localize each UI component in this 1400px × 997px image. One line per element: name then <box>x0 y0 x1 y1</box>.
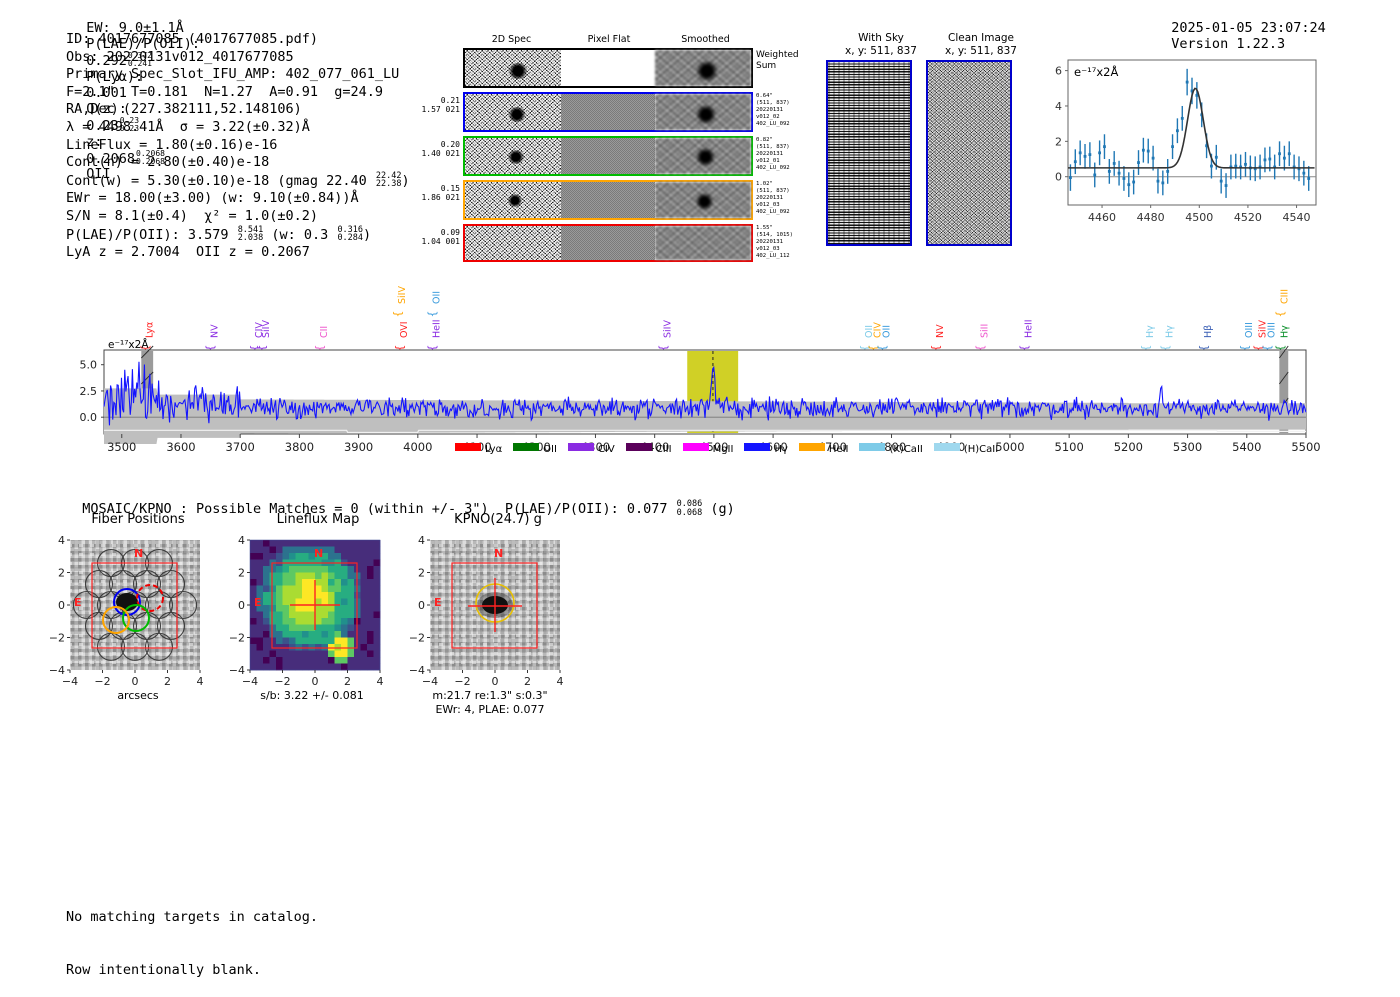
emission-line-label: SiIV <box>663 320 674 338</box>
legend-label: HeII <box>829 444 849 455</box>
emission-line-label: CIV <box>254 322 265 338</box>
emission-line-brace: { <box>391 311 404 318</box>
svg-text:0: 0 <box>1055 171 1062 184</box>
svg-text:4000: 4000 <box>403 440 432 454</box>
emission-line-label: NV <box>935 324 946 338</box>
svg-text:0: 0 <box>238 599 245 612</box>
cutout-pixelflat-image <box>561 94 655 130</box>
emission-line-label: Lyα <box>144 322 155 338</box>
kpno-title: KPNO(24.7) g <box>413 512 583 527</box>
legend-entry: CIII <box>626 444 672 455</box>
cutout-2dspec-image <box>465 226 561 260</box>
cutout-row-meta: 1.02" (511, 837) 20220131 v012_03 402_LU… <box>756 181 802 216</box>
version-label: Version 1.22.3 <box>1171 36 1285 52</box>
info-lineflux: LineFlux = 1.80(±0.16)e-16 <box>66 137 410 155</box>
svg-text:5.0: 5.0 <box>80 359 98 372</box>
cutout-row-green <box>463 136 753 176</box>
svg-text:5200: 5200 <box>1114 440 1143 454</box>
svg-text:4500: 4500 <box>1185 211 1213 224</box>
cutout-row-blue <box>463 92 753 132</box>
cutout-2dspec-image <box>465 182 561 218</box>
cutout-pixelflat-image <box>561 50 655 86</box>
cutout-col-title-pixelflat: Pixel Flat <box>561 34 657 45</box>
footer-line-1: No matching targets in catalog. <box>66 909 318 927</box>
legend-swatch <box>626 443 652 451</box>
footer-note: No matching targets in catalog. Row inte… <box>66 874 318 997</box>
emission-line-brace: { <box>1273 311 1286 318</box>
emission-line-label: SiII <box>979 324 990 338</box>
gmag-bounds: 22.4222.38 <box>376 172 402 189</box>
mosaic-plae-bounds: 0.0860.068 <box>677 500 703 517</box>
spectrum-legend: LyαOIICIVCIIIMgIIHγHeII(K)CaII(H)CaII <box>455 443 1009 455</box>
lineflux-map-title: Lineflux Map <box>233 512 403 527</box>
cutout-smoothed-image <box>655 226 751 260</box>
with-sky-title: With Sky x, y: 511, 837 <box>826 32 936 57</box>
legend-label: Lyα <box>485 444 502 455</box>
kpno-caption-2: EWr: 4, PLAE: 0.077 <box>400 703 580 717</box>
info-seeing: F=2.1" T=0.181 N=1.27 A=0.91 g=24.9 <box>66 84 410 102</box>
cutout-col-title-smoothed: Smoothed <box>658 34 753 45</box>
emission-line-label: Hγ <box>1279 325 1290 338</box>
svg-text:2: 2 <box>344 675 351 688</box>
svg-text:2: 2 <box>164 675 171 688</box>
emission-line-label: OVI <box>399 321 410 338</box>
svg-text:4: 4 <box>377 675 384 688</box>
svg-text:4: 4 <box>197 675 204 688</box>
cutout-col-title-2dspec: 2D Spec <box>463 34 560 45</box>
compass-n-label: N <box>494 547 503 560</box>
svg-text:4480: 4480 <box>1137 211 1165 224</box>
svg-text:0.0: 0.0 <box>80 411 98 424</box>
emission-line-label: Hγ <box>1145 325 1156 338</box>
svg-text:3800: 3800 <box>285 440 314 454</box>
legend-label: Hγ <box>774 444 787 455</box>
compass-e-label: E <box>434 596 442 609</box>
emission-line-label: Hβ <box>1203 325 1214 338</box>
cutout-smoothed-image <box>655 94 751 130</box>
svg-text:5100: 5100 <box>1055 440 1084 454</box>
svg-text:−2: −2 <box>274 675 290 688</box>
compass-n-label: N <box>134 547 143 560</box>
emission-line-label: OII <box>432 291 443 304</box>
svg-text:−4: −4 <box>50 664 65 677</box>
cutout-row-label: 0.15 1.86 021 <box>418 184 460 203</box>
legend-entry: Lyα <box>455 444 502 455</box>
cutout-row-label: 0.20 1.40 021 <box>418 140 460 159</box>
cutout-pixelflat-image <box>561 182 655 218</box>
fiber-positions-xlabel: arcsecs <box>48 689 228 703</box>
legend-swatch <box>799 443 825 451</box>
svg-text:0: 0 <box>132 675 139 688</box>
cutout-row-meta: 0.82" (511, 837) 20220131 v012_01 402_LU… <box>756 137 802 172</box>
svg-text:4: 4 <box>557 675 564 688</box>
full-spectrum-panel: {Lyα{NV{SiIV{CIV{CII{SiIV{OVI{OII{HeII{S… <box>60 270 1340 470</box>
cutout-row-meta: 1.55" (514, 1015) 20220131 v012_03 402_L… <box>756 225 802 260</box>
with-sky-coords: x, y: 511, 837 <box>845 45 917 57</box>
svg-text:4: 4 <box>58 534 65 547</box>
svg-text:0: 0 <box>312 675 319 688</box>
kpno-caption-1: m:21.7 re:1.3" s:0.3" <box>400 689 580 703</box>
plae-weighted-bounds: 0.3160.284 <box>337 226 363 243</box>
legend-label: MgII <box>713 444 734 455</box>
legend-label: (K)CaII <box>889 444 922 455</box>
svg-text:2: 2 <box>58 567 65 580</box>
legend-swatch <box>568 443 594 451</box>
svg-text:6: 6 <box>1055 65 1062 78</box>
emission-line-label: NV <box>210 324 221 338</box>
svg-text:−2: −2 <box>50 632 65 645</box>
legend-swatch <box>513 443 539 451</box>
cutout-panel: 2D Spec Pixel Flat Smoothed WeightedSum … <box>418 34 763 249</box>
weighted-sum-label: WeightedSum <box>756 50 799 72</box>
info-redshifts: LyA z = 2.7004 OII z = 0.2067 <box>66 244 410 262</box>
svg-text:5300: 5300 <box>1173 440 1202 454</box>
svg-text:3700: 3700 <box>226 440 255 454</box>
legend-label: OII <box>543 444 557 455</box>
legend-label: (H)CaII <box>964 444 998 455</box>
info-cont-n: Cont(n) = 2.80(±0.40)e-18 <box>66 154 410 172</box>
cutout-smoothed-image <box>655 138 751 174</box>
spectrum-units-label: e⁻¹⁷x2Å <box>108 338 149 351</box>
legend-entry: HeII <box>799 444 849 455</box>
legend-entry: CIV <box>568 444 615 455</box>
emission-line-label: OII <box>882 325 893 338</box>
clean-image-coords: x, y: 511, 837 <box>945 45 1017 57</box>
svg-text:−2: −2 <box>230 632 245 645</box>
compass-e-label: E <box>254 596 262 609</box>
cutout-2dspec-image <box>465 138 561 174</box>
emission-line-label: CIII <box>1279 289 1290 304</box>
info-sn: S/N = 8.1(±0.4) χ² = 1.0(±0.2) <box>66 208 410 226</box>
cutout-row-label: 0.09 1.04 001 <box>418 228 460 247</box>
cutout-2dspec-image <box>465 50 561 86</box>
svg-text:0: 0 <box>418 599 425 612</box>
emission-line-label: OIII <box>1244 322 1255 338</box>
cutout-row-label: 0.21 1.57 021 <box>418 96 460 115</box>
info-ewr: EWr = 18.00(±3.00) (w: 9.10(±0.84))Å <box>66 190 410 208</box>
svg-text:−2: −2 <box>454 675 470 688</box>
timestamp: 2025-01-05 23:07:24 <box>1171 20 1325 36</box>
cutout-pixelflat-image <box>561 226 655 260</box>
cutout-row-meta: 0.64" (511, 837) 20220131 v012_02 402_LU… <box>756 93 802 128</box>
legend-swatch <box>859 443 885 451</box>
svg-text:2: 2 <box>524 675 531 688</box>
info-id: ID: 4017677085 (4017677085.pdf) <box>66 31 410 49</box>
legend-entry: (K)CaII <box>859 444 922 455</box>
compass-e-label: E <box>74 596 82 609</box>
svg-text:5500: 5500 <box>1291 440 1320 454</box>
svg-text:2: 2 <box>1055 135 1062 148</box>
svg-text:2.5: 2.5 <box>80 385 98 398</box>
info-lambda: λ = 4498.41Å σ = 3.22(±0.32)Å <box>66 119 410 137</box>
line-profile-units-label: e⁻¹⁷x2Å <box>1074 64 1118 79</box>
svg-text:4540: 4540 <box>1283 211 1311 224</box>
svg-text:5400: 5400 <box>1232 440 1261 454</box>
cutout-smoothed-image <box>655 182 751 218</box>
legend-entry: OII <box>513 444 557 455</box>
with-sky-title-text: With Sky <box>858 32 904 44</box>
cutout-row-weighted-sum <box>463 48 753 88</box>
mosaic-suffix: (g) <box>702 501 735 517</box>
svg-text:3500: 3500 <box>107 440 136 454</box>
cutout-smoothed-image <box>655 50 751 86</box>
legend-swatch <box>744 443 770 451</box>
svg-text:2: 2 <box>238 567 245 580</box>
svg-text:−4: −4 <box>230 664 245 677</box>
svg-text:−2: −2 <box>410 632 425 645</box>
cutout-pixelflat-image <box>561 138 655 174</box>
footer-line-2: Row intentionally blank. <box>66 962 318 980</box>
info-radec: RA,Dec (227.382111,52.148106) <box>66 101 410 119</box>
compass-n-label: N <box>314 547 323 560</box>
svg-text:−2: −2 <box>94 675 110 688</box>
line-profile-svg: 0246 44604480450045204540 e⁻¹⁷x2Å <box>1040 56 1320 256</box>
clean-image-title-text: Clean Image <box>948 32 1014 44</box>
info-plae: P(LAE)/P(OII): 3.579 8.5412.038 (w: 0.3 … <box>66 226 410 245</box>
svg-text:3900: 3900 <box>344 440 373 454</box>
emission-line-label: CII <box>319 326 330 338</box>
svg-text:0: 0 <box>492 675 499 688</box>
svg-text:2: 2 <box>418 567 425 580</box>
cutout-row-orange <box>463 180 753 220</box>
svg-text:4460: 4460 <box>1088 211 1116 224</box>
svg-text:−4: −4 <box>410 664 425 677</box>
clean-image-thumbnail <box>926 60 1012 246</box>
svg-text:4: 4 <box>1055 100 1062 113</box>
emission-line-brace: { <box>426 311 439 318</box>
emission-line-label: HeII <box>432 319 443 338</box>
emission-line-label: SiIV <box>397 286 408 304</box>
emission-line-label: HeII <box>1024 319 1035 338</box>
legend-entry: MgII <box>683 444 734 455</box>
emission-line-label: Hγ <box>1165 325 1176 338</box>
svg-text:0: 0 <box>58 599 65 612</box>
emission-line-label: OIII <box>1266 322 1277 338</box>
svg-text:4520: 4520 <box>1234 211 1262 224</box>
legend-swatch <box>934 443 960 451</box>
info-obs: Obs: 20220131v012_4017677085 <box>66 49 410 67</box>
timestamp-version: 2025-01-05 23:07:24 Version 1.22.3 <box>1155 4 1342 52</box>
info-cont-w: Cont(w) = 5.30(±0.10)e-18 (gmag 22.40 22… <box>66 172 410 191</box>
svg-text:3600: 3600 <box>166 440 195 454</box>
lineflux-map-caption: s/b: 3.22 +/- 0.081 <box>222 689 402 703</box>
full-spectrum-svg: {Lyα{NV{SiIV{CIV{CII{SiIV{OVI{OII{HeII{S… <box>60 270 1340 470</box>
clean-image-title: Clean Image x, y: 511, 837 <box>926 32 1036 57</box>
plae-bounds: 8.5412.038 <box>238 226 264 243</box>
info-primary: Primary Spec_Slot_IFU_AMP: 402_077_061_L… <box>66 66 410 84</box>
line-profile-plot: 0246 44604480450045204540 e⁻¹⁷x2Å <box>1040 56 1320 256</box>
detection-info-block: ID: 4017677085 (4017677085.pdf) Obs: 202… <box>66 31 410 262</box>
svg-text:4: 4 <box>418 534 425 547</box>
legend-entry: Hγ <box>744 444 787 455</box>
svg-text:4: 4 <box>238 534 245 547</box>
cutout-2dspec-image <box>465 94 561 130</box>
legend-entry: (H)CaII <box>934 444 998 455</box>
legend-swatch <box>455 443 481 451</box>
fiber-positions-title: Fiber Positions <box>53 512 223 527</box>
legend-label: CIII <box>656 444 672 455</box>
legend-swatch <box>683 443 709 451</box>
with-sky-thumbnail <box>826 60 912 246</box>
cutout-row-red <box>463 224 753 262</box>
legend-label: CIV <box>598 444 615 455</box>
